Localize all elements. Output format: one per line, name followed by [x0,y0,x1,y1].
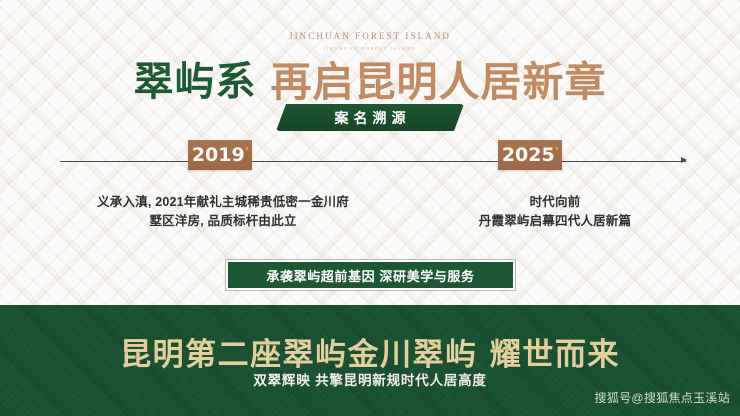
milestone-line-1: 义承入滇, 2021年献礼主城稀贵低密一金川府 [48,193,398,212]
year-tick-mark: ' [246,144,248,159]
title-series-name: 翠屿系 [134,59,257,105]
section-ribbon-label: 案名溯源 [330,108,411,128]
footer-band: 昆明第二座翠屿金川翠屿 耀世而来 双翠辉映 共擎昆明新规时代人居高度 搜狐号@搜… [0,305,740,416]
timeline-arrow-icon [681,157,687,163]
year-label: 2019 [192,144,245,166]
timeline-year-badge-2025: 2025' [498,140,562,170]
milestone-text-2025: 时代向前 丹霞翠屿启幕四代人居新篇 [420,193,690,231]
watermark-label: 搜狐号@搜狐焦点玉溪站 [595,389,730,406]
milestone-line-1: 时代向前 [420,193,690,212]
section-ribbon: 案名溯源 [276,104,464,131]
year-tick-mark: ' [556,144,558,159]
footer-subheadline: 双翠辉映 共擎昆明新规时代人居高度 [0,369,740,389]
milestone-line-2: 墅区洋房, 品质标杆由此立 [48,212,398,231]
timeline-year-badge-2019: 2019' [188,140,252,170]
year-label: 2025 [502,144,555,166]
footer-headline: 昆明第二座翠屿金川翠屿 耀世而来 [0,329,740,374]
milestone-line-2: 丹霞翠屿启幕四代人居新篇 [420,212,690,231]
milestone-text-2019: 义承入滇, 2021年献礼主城稀贵低密一金川府 墅区洋房, 品质标杆由此立 [48,193,398,231]
timeline-axis [60,161,686,162]
page-title: 翠屿系再启昆明人居新章 [0,48,740,108]
statement-box: 承袭翠屿超前基因 深研美学与服务 [228,262,513,288]
brand-name: JINCHUAN FOREST ISLAND [289,31,451,41]
title-main-text: 再启昆明人居新章 [271,58,607,106]
statement-text: 承袭翠屿超前基因 深研美学与服务 [266,266,474,285]
poster-root: JINCHUAN FOREST ISLAND JINCHUAN FOREST I… [0,0,740,416]
